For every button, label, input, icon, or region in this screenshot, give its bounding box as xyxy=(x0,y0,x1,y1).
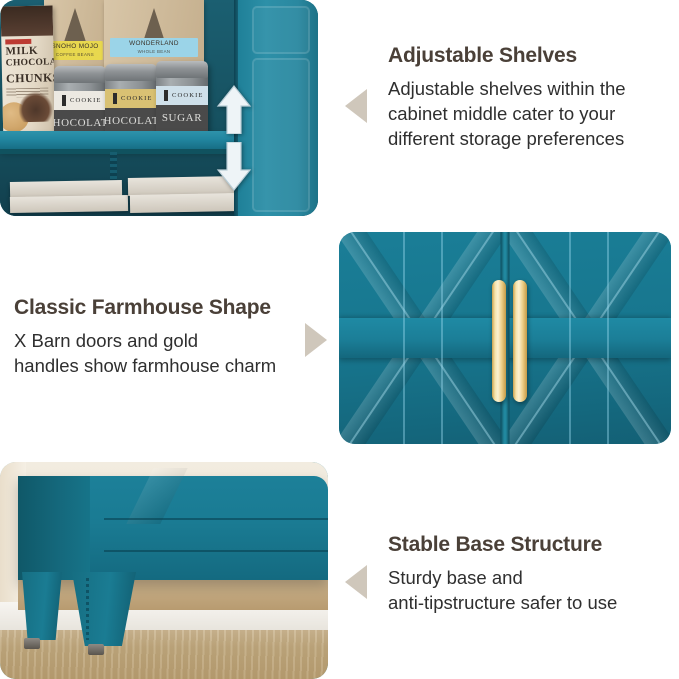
box-line-1: MILK xyxy=(5,46,38,58)
tin-mark-icon xyxy=(113,93,117,104)
box-line-3: CHUNKS xyxy=(6,71,55,84)
bag-label-2: WONDERLAND WHOLE BEAN xyxy=(110,38,198,57)
tin-1-label-text: COOKIE xyxy=(70,97,102,104)
cabinet-body xyxy=(18,476,328,580)
pointer-triangle-stable-base-structure xyxy=(345,565,367,599)
levelling-foot xyxy=(24,638,40,649)
barn-door-left xyxy=(339,232,505,444)
gold-handle-right[interactable] xyxy=(513,280,527,402)
cookie-tin-3: SUGAR COOKIE xyxy=(156,61,208,139)
tin-band: COOKIE xyxy=(156,86,208,105)
tin-2-label-text: COOKIE xyxy=(121,95,153,102)
box-photo-area xyxy=(1,5,54,36)
text-adjustable-shelves: Adjustable Shelves Adjustable shelves wi… xyxy=(388,44,676,151)
photo-classic-farmhouse-shape xyxy=(339,232,671,444)
shelf-front-edge xyxy=(0,149,238,154)
tin-lid xyxy=(105,64,157,81)
pointer-triangle-classic-farmhouse-shape xyxy=(305,323,327,357)
adjustable-shelf-board xyxy=(0,131,238,149)
text-classic-farmhouse-shape: Classic Farmhouse Shape X Barn doors and… xyxy=(14,296,304,378)
body-line: different storage preferences xyxy=(388,126,676,151)
tin-mark-icon xyxy=(164,90,168,101)
photo-stable-base-structure xyxy=(0,462,328,679)
box-line-2: CHOCOLATE xyxy=(6,58,56,69)
body-line: anti-tipstructure safer to use xyxy=(388,590,676,615)
door-plank-seam xyxy=(569,232,571,444)
arrow-up-icon xyxy=(216,84,252,134)
tin-3-lower-text: SUGAR xyxy=(162,112,202,124)
body-line: handles show farmhouse charm xyxy=(14,353,304,378)
bag-label-1-sub: COFFEE BEANS xyxy=(48,52,103,58)
cabinet-panel-line xyxy=(104,550,328,552)
chocolate-chunks-box: MILK CHOCOLATE CHUNKS xyxy=(1,5,56,144)
text-stable-base-structure: Stable Base Structure Sturdy base and an… xyxy=(388,533,676,615)
pointer-triangle-adjustable-shelves xyxy=(345,89,367,123)
tin-1-lower-text: CHOCOLATE xyxy=(54,117,106,129)
tin-3-label-text: COOKIE xyxy=(172,92,204,99)
tree-graphic-icon xyxy=(64,8,86,42)
tree-graphic-icon xyxy=(143,8,165,42)
cutting-board xyxy=(130,193,238,213)
shelf-adjust-annotation xyxy=(216,84,252,192)
bag-label-2-name: WONDERLAND xyxy=(110,40,198,49)
tin-lower-label: SUGAR xyxy=(156,105,208,131)
bag-label-1-name: SNOHO MOJO xyxy=(48,43,103,52)
bag-label-2-sub: WHOLE BEAN xyxy=(110,49,198,55)
arrow-down-icon xyxy=(216,142,252,192)
door-inset-upper xyxy=(252,6,310,54)
body-line: Sturdy base and xyxy=(388,565,676,590)
tin-mark-icon xyxy=(62,95,66,106)
tin-lid xyxy=(156,61,208,78)
body-line: Adjustable shelves within the xyxy=(388,76,676,101)
anti-tip-strap xyxy=(86,578,89,640)
tin-lid xyxy=(54,66,106,83)
cabinet-side-panel xyxy=(18,476,90,580)
cabinet-panel-line xyxy=(104,518,328,520)
bag-label-1: SNOHO MOJO COFFEE BEANS xyxy=(48,41,103,60)
body-line: X Barn doors and gold xyxy=(14,328,304,353)
door-inset-lower xyxy=(252,58,310,212)
heading-stable-base-structure: Stable Base Structure xyxy=(388,533,676,557)
x-brace-edge xyxy=(126,468,187,524)
heading-classic-farmhouse-shape: Classic Farmhouse Shape xyxy=(14,296,304,320)
levelling-foot xyxy=(88,644,104,655)
gold-handle-left[interactable] xyxy=(492,280,506,402)
tin-2-lower-text: CHOCOLATE xyxy=(105,115,157,127)
body-line: cabinet middle cater to your xyxy=(388,101,676,126)
door-plank-seam xyxy=(403,232,405,444)
cabinet-leg-rear xyxy=(22,572,62,640)
heading-adjustable-shelves: Adjustable Shelves xyxy=(388,44,676,68)
door-mid-rail xyxy=(339,318,505,358)
cutting-board xyxy=(10,195,128,213)
tin-band: COOKIE xyxy=(54,91,106,110)
barn-door-right xyxy=(505,232,671,444)
box-red-tag xyxy=(5,39,31,45)
door-plank-seam xyxy=(441,232,443,444)
chocolate-pile-graphic xyxy=(18,91,53,122)
infographic-page: SNOHO MOJO COFFEE BEANS WONDERLAND WHOLE… xyxy=(0,0,679,679)
photo-adjustable-shelves: SNOHO MOJO COFFEE BEANS WONDERLAND WHOLE… xyxy=(0,0,318,216)
door-mid-rail xyxy=(505,318,671,358)
door-plank-seam xyxy=(607,232,609,444)
cabinet-underside xyxy=(18,580,328,610)
tin-band: COOKIE xyxy=(105,89,157,108)
